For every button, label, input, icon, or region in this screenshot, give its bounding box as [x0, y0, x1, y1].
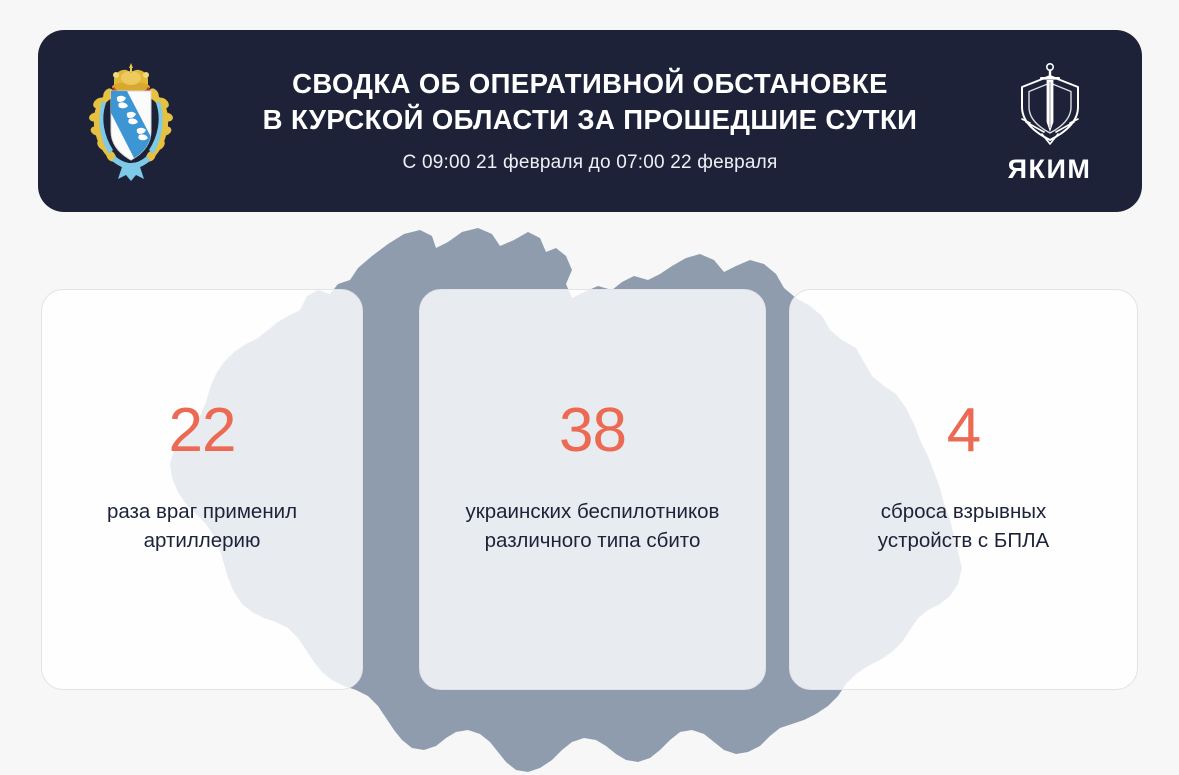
- page-title-line-2: В КУРСКОЙ ОБЛАСТИ ЗА ПРОШЕДШИЕ СУТКИ: [263, 102, 918, 137]
- stat-label: сброса взрывных устройств с БПЛА: [878, 497, 1049, 555]
- stat-label-line-1: раза враг применил: [107, 497, 297, 526]
- stat-label-line-2: устройств с БПЛА: [878, 526, 1049, 555]
- report-period: С 09:00 21 февраля до 07:00 22 февраля: [403, 152, 778, 174]
- stat-label-line-2: различного типа сбито: [466, 526, 720, 555]
- stat-card-artillery: 22 раза враг применил артиллерию: [41, 289, 363, 690]
- header-text-block: СВОДКА ОБ ОПЕРАТИВНОЙ ОБСТАНОВКЕ В КУРСК…: [223, 66, 957, 175]
- shield-sword-icon: [1004, 60, 1096, 152]
- stat-card-drones-downed: 38 украинских беспилотников различного т…: [419, 289, 766, 690]
- stat-label-line-2: артиллерию: [107, 526, 297, 555]
- infographic-page: СВОДКА ОБ ОПЕРАТИВНОЙ ОБСТАНОВКЕ В КУРСК…: [0, 0, 1179, 775]
- stat-label-line-1: украинских беспилотников: [466, 497, 720, 526]
- crown-icon: [112, 63, 150, 92]
- stat-card-explosive-drops: 4 сброса взрывных устройств с БПЛА: [789, 289, 1138, 690]
- logo-wordmark: ЯКИМ: [1008, 156, 1092, 183]
- header-banner: СВОДКА ОБ ОПЕРАТИВНОЙ ОБСТАНОВКЕ В КУРСК…: [38, 30, 1142, 212]
- page-title-line-1: СВОДКА ОБ ОПЕРАТИВНОЙ ОБСТАНОВКЕ: [263, 66, 918, 101]
- stat-value: 22: [169, 402, 236, 461]
- kursk-coat-of-arms-icon: [38, 30, 223, 212]
- shield: [111, 91, 151, 160]
- stat-label-line-1: сброса взрывных: [878, 497, 1049, 526]
- yakim-logo: ЯКИМ: [957, 30, 1142, 212]
- page-title: СВОДКА ОБ ОПЕРАТИВНОЙ ОБСТАНОВКЕ В КУРСК…: [263, 66, 918, 136]
- stat-label: раза враг применил артиллерию: [107, 497, 297, 555]
- stat-value: 4: [947, 402, 980, 461]
- stat-label: украинских беспилотников различного типа…: [466, 497, 720, 555]
- stat-value: 38: [559, 402, 626, 461]
